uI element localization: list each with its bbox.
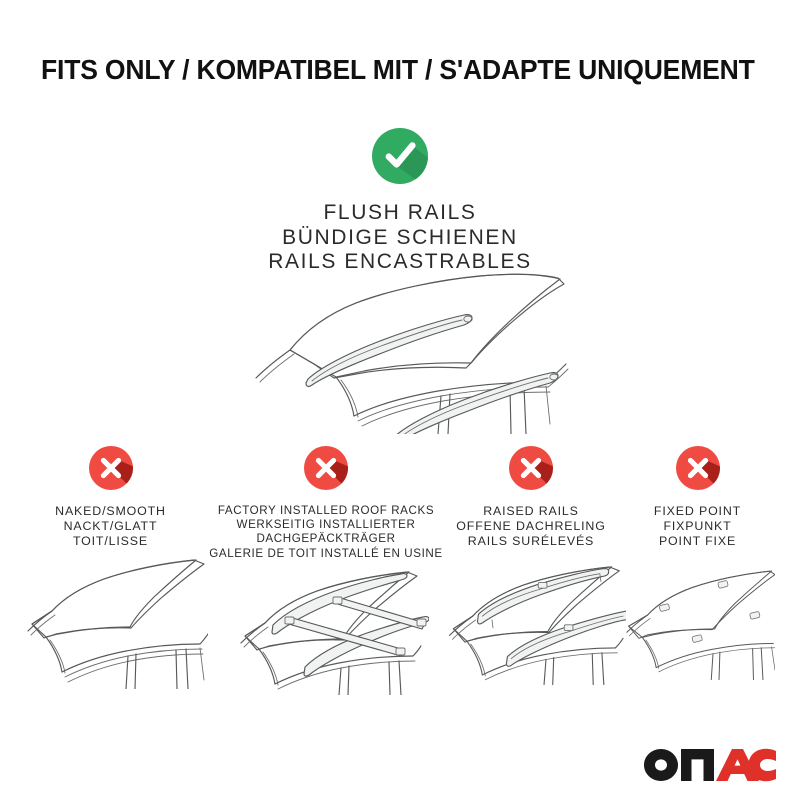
cross-circle-icon xyxy=(304,446,348,495)
label-line-1: FIXED POINT xyxy=(620,504,775,519)
label-line-1: FACTORY INSTALLED ROOF RACKS xyxy=(206,504,446,518)
label-line-1: RAISED RAILS xyxy=(436,504,626,519)
incompatible-roof-types-grid: NAKED/SMOOTH NACKT/GLATT TOIT/LISSE xyxy=(0,446,800,746)
hero-label-line-2: BÜNDIGE SCHIENEN xyxy=(0,226,800,251)
label-line-3: TOIT/LISSE xyxy=(8,534,213,549)
roof-type-label: RAISED RAILS OFFENE DACHRELING RAILS SUR… xyxy=(436,504,626,550)
roof-type-label: FIXED POINT FIXPUNKT POINT FIXE xyxy=(620,504,775,550)
hero-flush-rails-section: FLUSH RAILS BÜNDIGE SCHIENEN RAILS ENCAS… xyxy=(0,128,800,275)
roof-type-card-naked-smooth: NAKED/SMOOTH NACKT/GLATT TOIT/LISSE xyxy=(8,446,213,689)
car-roof-with-crossbars-illustration xyxy=(212,555,446,695)
status-icon-wrap xyxy=(8,446,213,495)
cross-circle-icon xyxy=(509,446,553,495)
cross-circle-icon xyxy=(676,446,720,495)
cross-circle-icon xyxy=(89,446,133,495)
label-line-3: RAILS SURÉLEVÉS xyxy=(436,534,626,549)
roof-type-label: NAKED/SMOOTH NACKT/GLATT TOIT/LISSE xyxy=(8,504,213,550)
omac-logo xyxy=(644,748,776,782)
status-icon-wrap xyxy=(206,446,446,495)
hero-status-icon-wrap xyxy=(0,128,800,189)
roof-type-card-raised-rails: RAISED RAILS OFFENE DACHRELING RAILS SUR… xyxy=(436,446,626,687)
label-line-1: NAKED/SMOOTH xyxy=(8,504,213,519)
status-icon-wrap xyxy=(436,446,626,495)
label-line-2: FIXPUNKT xyxy=(620,519,775,534)
car-roof-with-raised-rails-illustration xyxy=(438,552,626,687)
status-icon-wrap xyxy=(620,446,775,495)
roof-type-card-fixed-point: FIXED POINT FIXPUNKT POINT FIXE xyxy=(620,446,775,689)
label-line-2: WERKSEITIG INSTALLIERTER xyxy=(206,518,446,532)
hero-label-line-1: FLUSH RAILS xyxy=(0,201,800,226)
header: FITS ONLY / KOMPATIBEL MIT / S'ADAPTE UN… xyxy=(0,0,800,100)
car-roof-with-fixed-points-illustration xyxy=(620,554,775,689)
check-circle-icon xyxy=(372,128,428,189)
label-line-2: NACKT/GLATT xyxy=(8,519,213,534)
roof-type-card-factory-roof-racks: FACTORY INSTALLED ROOF RACKS WERKSEITIG … xyxy=(206,446,446,695)
label-line-2: OFFENE DACHRELING xyxy=(436,519,626,534)
roof-type-label: FACTORY INSTALLED ROOF RACKS WERKSEITIG … xyxy=(206,504,446,561)
car-roof-bare-illustration xyxy=(12,554,213,689)
car-roof-with-flush-rails-illustration xyxy=(228,264,578,434)
label-line-3: DACHGEPÄCKTRÄGER xyxy=(206,532,446,546)
page-title: FITS ONLY / KOMPATIBEL MIT / S'ADAPTE UN… xyxy=(41,54,755,86)
label-line-3: POINT FIXE xyxy=(620,534,775,549)
